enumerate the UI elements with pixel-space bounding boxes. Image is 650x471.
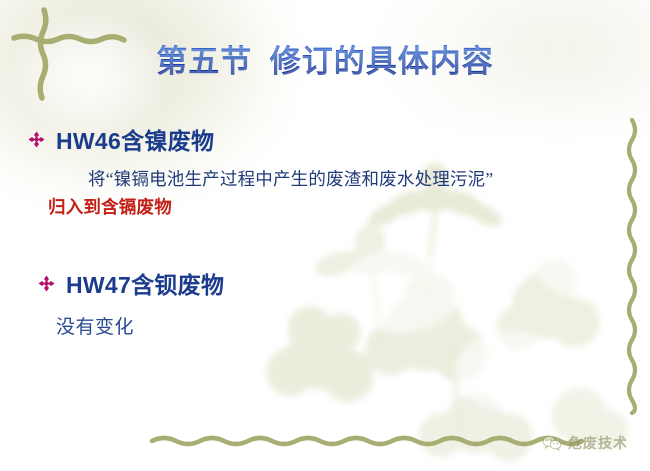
section-code-hw47: HW47 [66, 272, 131, 298]
hw46-body-line-2-highlight: 归入到含镉废物 [48, 194, 172, 219]
channel-watermark: 危废技术 [542, 433, 628, 453]
wechat-icon [542, 435, 562, 451]
section-name-hw46: 含镍废物 [121, 129, 214, 154]
channel-watermark-label: 危废技术 [568, 433, 628, 453]
section-heading-hw46: HW46含镍废物 [28, 122, 214, 156]
page-title: 第五节 修订的具体内容 [0, 44, 650, 80]
section-heading-hw47: HW47含钡废物 [38, 266, 224, 300]
slide-canvas: 第五节 修订的具体内容 HW46含镍废物 将“镍镉电池生产过程中产生的废渣和废水… [0, 0, 650, 471]
diamond-bullet-icon [28, 131, 45, 148]
hw46-body-line-1: 将“镍镉电池生产过程中产生的废渣和废水处理污泥” [88, 166, 493, 191]
diamond-bullet-icon [38, 275, 55, 292]
section-name-hw47: 含钡废物 [131, 273, 224, 298]
hw47-body-line-1: 没有变化 [56, 312, 134, 339]
section-code-hw46: HW46 [56, 128, 121, 154]
